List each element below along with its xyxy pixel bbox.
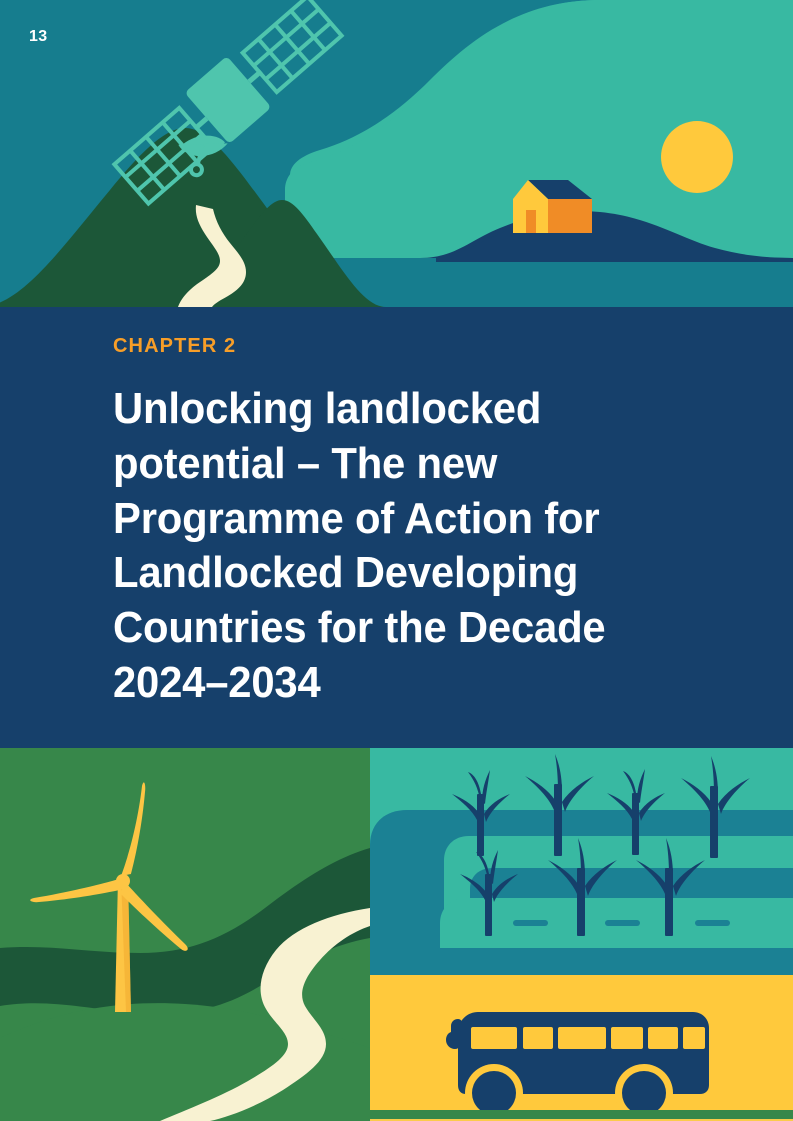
hero-svg <box>0 0 793 307</box>
wind-energy-panel <box>0 748 370 1121</box>
title-block: CHAPTER 2 Unlocking landlocked potential… <box>113 336 713 711</box>
bus-wheel-icon <box>472 1071 516 1115</box>
chapter-cover-page: 13 CHAPTER 2 Unlocking landlocked potent… <box>0 0 793 1121</box>
wind-energy-svg <box>0 748 370 1121</box>
transport-svg <box>370 975 793 1121</box>
field-row-icon <box>370 948 793 975</box>
page-title: Unlocking landlocked potential – The new… <box>113 382 626 711</box>
hero-illustration: 13 <box>0 0 793 307</box>
bus-wheel-icon <box>622 1071 666 1115</box>
sun-icon <box>661 121 733 193</box>
field-dash-group <box>513 920 730 926</box>
page-number: 13 <box>29 29 48 45</box>
bottom-illustration-group <box>0 748 793 1121</box>
chapter-eyebrow: CHAPTER 2 <box>113 336 713 356</box>
bus-window-group <box>471 1027 705 1049</box>
title-band: CHAPTER 2 Unlocking landlocked potential… <box>0 307 793 748</box>
agriculture-panel <box>370 748 793 975</box>
road-stripe-icon <box>370 1110 793 1119</box>
transport-panel <box>370 975 793 1121</box>
agriculture-svg <box>370 748 793 975</box>
